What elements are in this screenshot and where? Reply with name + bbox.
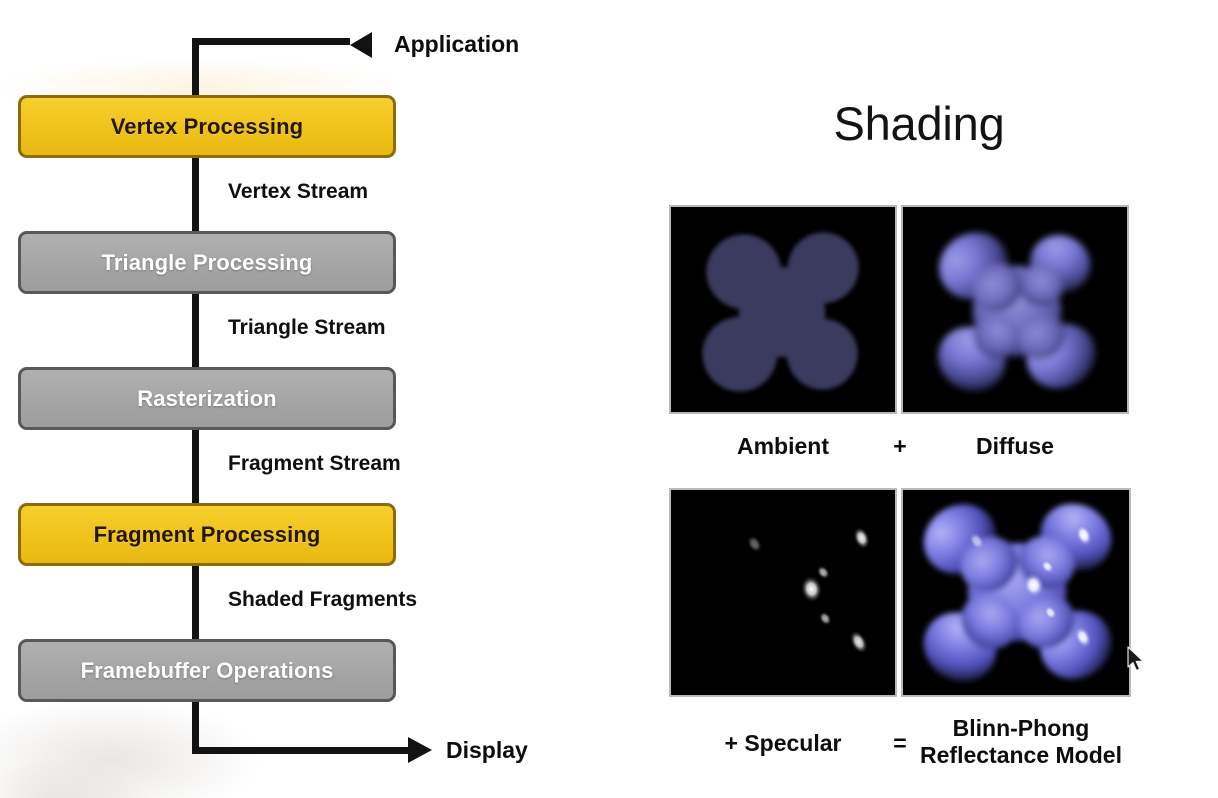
caption-diffuse: Diffuse (901, 433, 1129, 460)
stage-label: Rasterization (137, 386, 276, 412)
caption-blinn-phong-line1: Blinn-Phong (901, 715, 1141, 742)
render-panel-specular[interactable] (669, 488, 897, 697)
ambient-render-icon (671, 207, 895, 412)
pipeline-stage-vertex-processing[interactable]: Vertex Processing (18, 95, 396, 158)
shading-title: Shading (620, 96, 1218, 151)
stage-label: Triangle Processing (102, 250, 313, 276)
spine-seg-4 (192, 560, 199, 644)
render-panel-result[interactable] (901, 488, 1131, 697)
pipeline-input-line (192, 38, 350, 45)
pipeline-output-label: Display (446, 737, 528, 764)
blinn-phong-render-icon (903, 490, 1129, 695)
stage-label: Framebuffer Operations (81, 658, 334, 684)
screenshot-root: Application Vertex Processing Triangle P… (0, 0, 1218, 798)
spine-seg-1 (192, 152, 199, 236)
caption-blinn-phong: Blinn-Phong Reflectance Model (901, 715, 1141, 769)
caption-ambient: Ambient (669, 433, 897, 460)
pipeline-stage-framebuffer-operations[interactable]: Framebuffer Operations (18, 639, 396, 702)
pipeline-input-label: Application (394, 31, 519, 58)
render-panel-diffuse[interactable] (901, 205, 1129, 414)
stage-label: Vertex Processing (111, 114, 303, 140)
render-panel-ambient[interactable] (669, 205, 897, 414)
specular-render-icon (671, 490, 895, 695)
diffuse-render-icon (903, 207, 1127, 412)
pipeline-stage-fragment-processing[interactable]: Fragment Processing (18, 503, 396, 566)
spine-seg-2 (192, 288, 199, 372)
caption-blinn-phong-line2: Reflectance Model (901, 742, 1141, 769)
arrow-left-icon (350, 32, 372, 58)
pipeline-stage-rasterization[interactable]: Rasterization (18, 367, 396, 430)
stream-label-triangle-stream: Triangle Stream (228, 316, 386, 340)
pipeline-stage-triangle-processing[interactable]: Triangle Processing (18, 231, 396, 294)
stream-label-fragment-stream: Fragment Stream (228, 452, 401, 476)
spine-seg-3 (192, 424, 199, 508)
spine-seg-5 (192, 696, 199, 754)
arrow-right-icon (408, 737, 432, 763)
shading-figure: Shading (620, 0, 1218, 798)
stage-label: Fragment Processing (94, 522, 321, 548)
caption-specular: + Specular (669, 730, 897, 757)
stream-label-shaded-fragments: Shaded Fragments (228, 588, 417, 612)
graphics-pipeline-diagram: Application Vertex Processing Triangle P… (0, 0, 620, 798)
pipeline-output-line (192, 747, 410, 754)
stream-label-vertex-stream: Vertex Stream (228, 180, 368, 204)
